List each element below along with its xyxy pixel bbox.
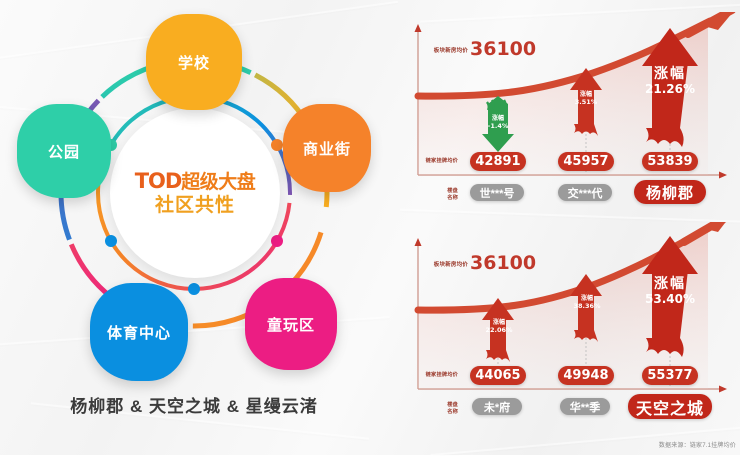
node-school[interactable]: 学校 [146,14,242,110]
chart-2-price-1: 44065 [470,366,526,385]
chart-1-price-row-label: 链家挂牌均价 [416,158,458,165]
chart-tiankongzhicheng: 板块新房均价 36100 涨幅 22.06% 涨幅 38.36% 涨幅 53.4… [388,222,740,432]
chart-2-price-row-label: 链家挂牌均价 [416,372,458,379]
chart-1-price-1: 42891 [470,152,526,171]
tod-community-diagram: TOD超级大盘 社区共性 学校 商业街 童玩区 体育中心 公园 杨柳郡 & 天空… [0,0,388,455]
node-kids-play-area[interactable]: 童玩区 [245,278,337,370]
chart-1-baseline-value: 36100 [470,38,536,60]
chart-2-baseline-label: 板块新房均价 [424,262,468,269]
center-label: TOD超级大盘 社区共性 [110,108,280,278]
chart-2-price-2: 49948 [558,366,614,385]
chart-1-name-row-label: 楼盘 名称 [416,188,458,201]
chart-1-baseline-label: 板块新房均价 [424,48,468,55]
source-note: 数据来源：链家7.1挂牌均价 [659,440,736,449]
chart-2-change-2: 涨幅 38.36% [568,296,606,310]
chart-2-estate-3[interactable]: 天空之城 [628,394,712,419]
chart-2-change-3-title: 涨幅 [638,276,702,292]
node-kids-play-area-label: 童玩区 [267,314,315,335]
chart-1-change-3-title: 涨幅 [638,66,702,82]
node-commercial-street[interactable]: 商业街 [283,104,371,192]
chart-1-change-3: 涨幅 21.26% [638,66,702,96]
node-sports-center-label: 体育中心 [107,322,171,343]
chart-2-change-2-value: 38.36% [568,303,606,310]
chart-2-baseline-value: 36100 [470,252,536,274]
chart-1-estate-3[interactable]: 杨柳郡 [634,180,706,204]
chart-2-change-3-value: 53.40% [638,293,702,306]
chart-2-change-3: 涨幅 53.40% [638,276,702,306]
chart-2-name-row-label: 楼盘 名称 [416,402,458,415]
chart-1-change-2: 涨幅 3.51% [566,92,606,106]
price-growth-charts: 板块新房均价 36100 涨幅 -1.4% 涨幅 3.51% 涨幅 21.26%… [388,0,740,455]
diagram-caption: 杨柳郡 & 天空之城 & 星缦云渚 [0,392,388,417]
node-school-label: 学校 [178,52,210,73]
chart-2-price-3: 55377 [642,366,698,385]
chart-1-change-2-value: 3.51% [566,99,606,106]
chart-1-price-2: 45957 [558,152,614,171]
chart-2-name-row-label-l2: 名称 [416,409,458,416]
center-label-line1: TOD超级大盘 [135,170,256,194]
chart-2-change-1: 涨幅 22.06% [480,320,518,334]
chart-1-price-3: 53839 [642,152,698,171]
node-commercial-street-label: 商业街 [303,138,351,159]
chart-1-change-1-value: -1.4% [478,123,518,130]
node-park[interactable]: 公园 [17,104,111,198]
chart-1-change-3-value: 21.26% [638,83,702,96]
center-label-line2: 社区共性 [155,195,235,216]
chart-yangliujun: 板块新房均价 36100 涨幅 -1.4% 涨幅 3.51% 涨幅 21.26%… [388,12,740,222]
chart-2-estate-1[interactable]: 未*府 [472,398,522,415]
chart-1-estate-1[interactable]: 世***号 [470,184,524,201]
chart-2-change-1-value: 22.06% [480,327,518,334]
node-park-label: 公园 [48,141,80,162]
chart-1-change-1: 涨幅 -1.4% [478,116,518,130]
chart-2-estate-2[interactable]: 华**季 [560,398,610,415]
node-sports-center[interactable]: 体育中心 [90,283,188,381]
chart-1-estate-2[interactable]: 交***代 [558,184,612,201]
chart-1-name-row-label-l2: 名称 [416,195,458,202]
poster-root: TOD超级大盘 社区共性 学校 商业街 童玩区 体育中心 公园 杨柳郡 & 天空… [0,0,740,455]
